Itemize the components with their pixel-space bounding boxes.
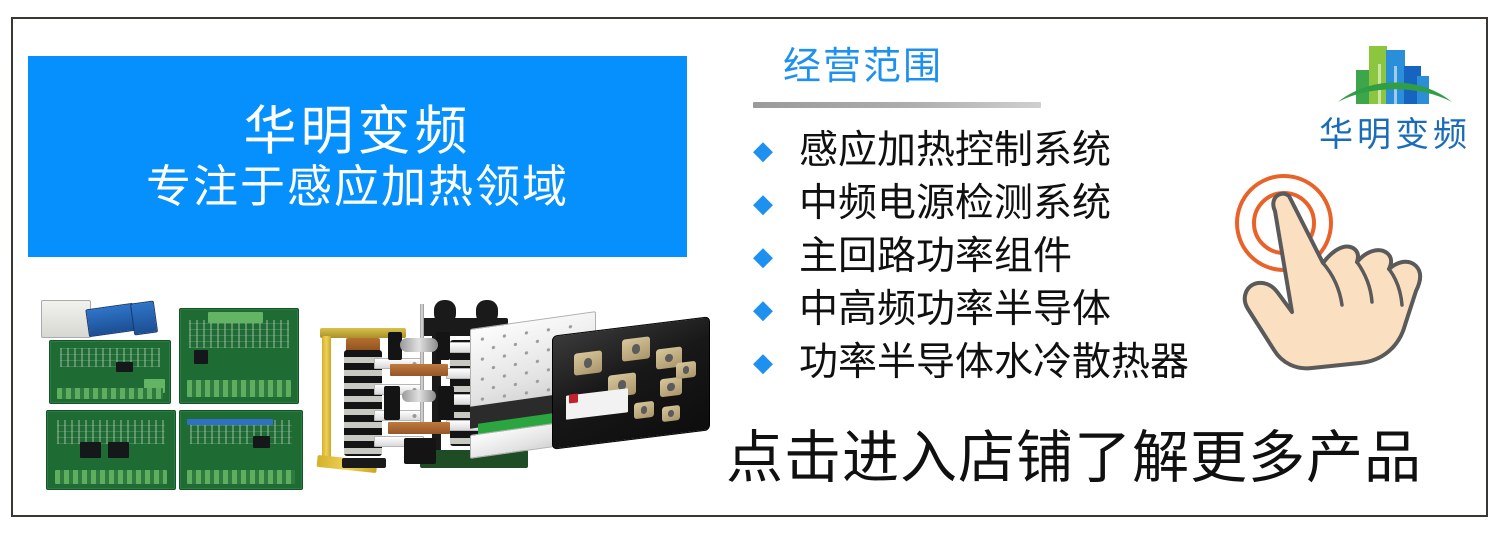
diamond-bullet-icon: ◆ (753, 191, 799, 217)
diamond-bullet-icon: ◆ (753, 350, 799, 376)
scope-list-item: ◆ 主回路功率组件 (753, 230, 1233, 283)
scope-list-item: ◆ 功率半导体水冷散热器 (753, 336, 1233, 389)
headline-block: 华明变频 专注于感应加热领域 (28, 56, 687, 257)
scope-item-label: 中频电源检测系统 (799, 184, 1111, 223)
product-image-copper-busbar-assembly (374, 304, 474, 484)
brand-tagline: 专注于感应加热领域 (146, 164, 569, 209)
tap-hand-icon[interactable] (1192, 155, 1488, 415)
scope-item-label: 感应加热控制系统 (799, 131, 1111, 170)
product-image-control-pcb-mid-left (49, 340, 171, 404)
logo-brand-text: 华明变频 (1306, 118, 1484, 152)
scope-item-label: 主回路功率组件 (799, 237, 1072, 276)
diamond-bullet-icon: ◆ (753, 297, 799, 323)
product-image-relay-terminal (130, 300, 158, 335)
product-image-igbt-power-module (552, 318, 712, 470)
product-image-relay-coil (85, 303, 136, 337)
diamond-bullet-icon: ◆ (753, 244, 799, 270)
scope-title: 经营范围 (783, 47, 943, 85)
diamond-bullet-icon: ◆ (753, 138, 799, 164)
product-image-control-pcb-top-right (179, 308, 299, 404)
scope-list-item: ◆ 中高频功率半导体 (753, 283, 1233, 336)
scope-list-item: ◆ 中频电源检测系统 (753, 177, 1233, 230)
product-image-control-pcb-bottom-right (179, 410, 303, 490)
scope-divider (753, 102, 1041, 108)
promotional-banner: 华明变频 专注于感应加热领域 (0, 0, 1500, 533)
product-image-relay-module (41, 300, 91, 338)
brand-name: 华明变频 (244, 105, 472, 158)
scope-list-item: ◆ 感应加热控制系统 (753, 124, 1233, 177)
product-photo-strip (24, 282, 690, 497)
cta-enter-shop-label[interactable]: 点击进入店铺了解更多产品 (726, 430, 1422, 487)
scope-list: ◆ 感应加热控制系统 ◆ 中频电源检测系统 ◆ 主回路功率组件 ◆ 中高频功率半… (753, 124, 1233, 389)
product-image-control-pcb-bottom-left (46, 410, 176, 490)
scope-item-label: 功率半导体水冷散热器 (799, 343, 1189, 382)
building-logo-icon (1336, 36, 1454, 114)
scope-item-label: 中高频功率半导体 (799, 290, 1111, 329)
